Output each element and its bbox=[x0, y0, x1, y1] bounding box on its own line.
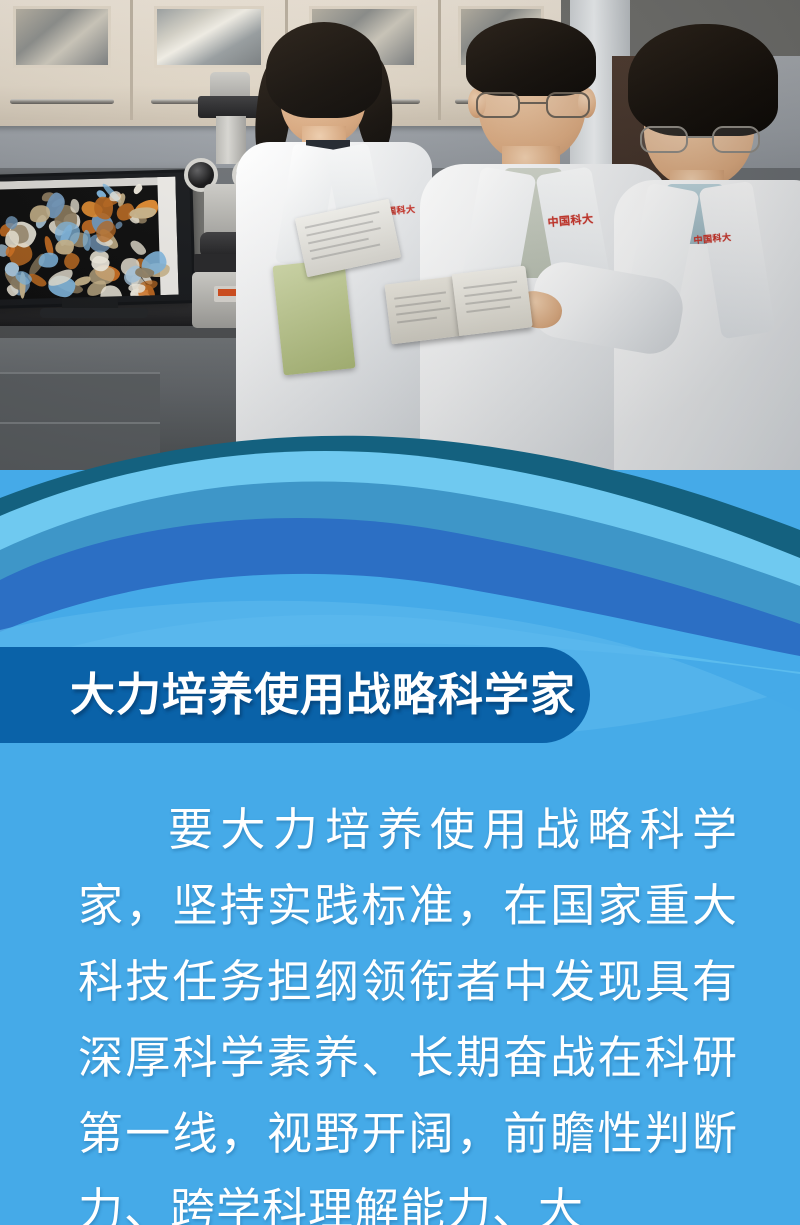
monitor-base bbox=[40, 308, 148, 318]
book-page-right bbox=[452, 265, 533, 336]
micrograph-grain bbox=[128, 284, 145, 293]
book-page-left bbox=[385, 276, 462, 344]
micrograph-grain bbox=[5, 231, 19, 248]
lens bbox=[546, 92, 590, 118]
computer-monitor bbox=[0, 169, 196, 309]
cabinet-handle-icon bbox=[10, 99, 113, 104]
hair bbox=[628, 24, 778, 136]
monitor-screen-micrograph bbox=[0, 177, 179, 300]
page-title: 大力培养使用战略科学家 bbox=[70, 665, 590, 725]
glasses-bridge bbox=[688, 136, 714, 138]
lens bbox=[712, 126, 760, 153]
coat-embroidery: 中国科大 bbox=[693, 235, 724, 254]
cabinet-door bbox=[0, 0, 133, 120]
hair bbox=[466, 18, 596, 96]
eyeglasses-icon bbox=[476, 92, 592, 120]
lens bbox=[476, 92, 520, 118]
micrograph-grain bbox=[128, 238, 148, 257]
lens bbox=[640, 126, 688, 153]
eyeglasses-icon bbox=[640, 126, 760, 154]
hair bbox=[266, 22, 382, 118]
cabinet-glass-pane bbox=[13, 6, 111, 68]
poster-root: 中国科大 中国科大 bbox=[0, 0, 800, 1225]
screen-toolbar bbox=[0, 177, 176, 190]
body-paragraph: 要大力培养使用战略科学家，坚持实践标准，在国家重大科技任务担纲领衔者中发现具有深… bbox=[78, 792, 738, 1225]
green-folder bbox=[272, 259, 355, 376]
glasses-bridge bbox=[520, 102, 548, 104]
micrograph-grain bbox=[70, 199, 80, 214]
